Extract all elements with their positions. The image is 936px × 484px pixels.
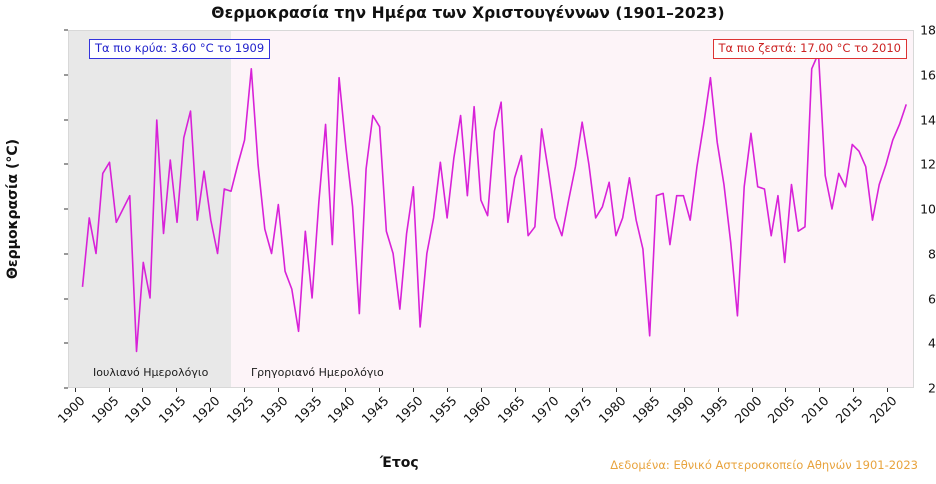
x-tick-label: 1925 (213, 393, 256, 436)
x-tick-mark (142, 388, 143, 392)
x-tick-mark (109, 388, 110, 392)
plot-area: Τα πιο κρύα: 3.60 °C το 1909 Τα πιο ζεστ… (68, 30, 914, 388)
x-tick-mark (752, 388, 753, 392)
x-axis-label: Έτος (380, 455, 419, 471)
x-tick-label: 2010 (789, 393, 832, 436)
x-tick-label: 1945 (349, 393, 392, 436)
x-tick-mark (718, 388, 719, 392)
x-tick-label: 1920 (180, 393, 223, 436)
x-tick-mark (785, 388, 786, 392)
x-tick-mark (481, 388, 482, 392)
julian-calendar-label: Ιουλιανό Ημερολόγιο (93, 366, 208, 379)
x-tick-mark (176, 388, 177, 392)
x-tick-mark (616, 388, 617, 392)
x-tick-label: 1950 (383, 393, 426, 436)
x-tick-mark (684, 388, 685, 392)
x-tick-mark (244, 388, 245, 392)
hottest-annotation: Τα πιο ζεστά: 17.00 °C το 2010 (713, 39, 907, 59)
x-tick-mark (345, 388, 346, 392)
temperature-line-series (69, 31, 913, 387)
source-annotation: Δεδομένα: Εθνικό Αστεροσκοπείο Αθηνών 19… (610, 458, 918, 472)
x-tick-label: 1900 (44, 393, 87, 436)
x-tick-mark (379, 388, 380, 392)
x-tick-label: 1915 (146, 393, 189, 436)
x-tick-mark (413, 388, 414, 392)
chart-root: Θερμοκρασία την Ημέρα των Χριστουγέννων … (0, 0, 936, 484)
page-title: Θερμοκρασία την Ημέρα των Χριστουγέννων … (0, 4, 936, 22)
x-tick-label: 1930 (247, 393, 290, 436)
gregorian-calendar-label: Γρηγοριανό Ημερολόγιο (251, 366, 384, 379)
x-tick-label: 2020 (856, 393, 899, 436)
x-tick-label: 2015 (823, 393, 866, 436)
x-tick-mark (853, 388, 854, 392)
x-tick-label: 1995 (687, 393, 730, 436)
x-tick-mark (447, 388, 448, 392)
x-tick-mark (278, 388, 279, 392)
y-axis-label: Θερμοκρασία (°C) (2, 30, 24, 388)
x-tick-mark (515, 388, 516, 392)
x-tick-label: 1965 (484, 393, 527, 436)
x-tick-mark (549, 388, 550, 392)
x-tick-mark (650, 388, 651, 392)
x-tick-label: 1990 (653, 393, 696, 436)
x-tick-mark (887, 388, 888, 392)
coldest-annotation: Τα πιο κρύα: 3.60 °C το 1909 (89, 39, 270, 59)
x-tick-mark (75, 388, 76, 392)
x-tick-mark (582, 388, 583, 392)
x-tick-mark (819, 388, 820, 392)
x-tick-label: 1955 (416, 393, 459, 436)
x-tick-label: 1960 (450, 393, 493, 436)
x-tick-label: 1980 (586, 393, 629, 436)
x-tick-label: 1985 (620, 393, 663, 436)
x-tick-mark (210, 388, 211, 392)
x-tick-mark (312, 388, 313, 392)
